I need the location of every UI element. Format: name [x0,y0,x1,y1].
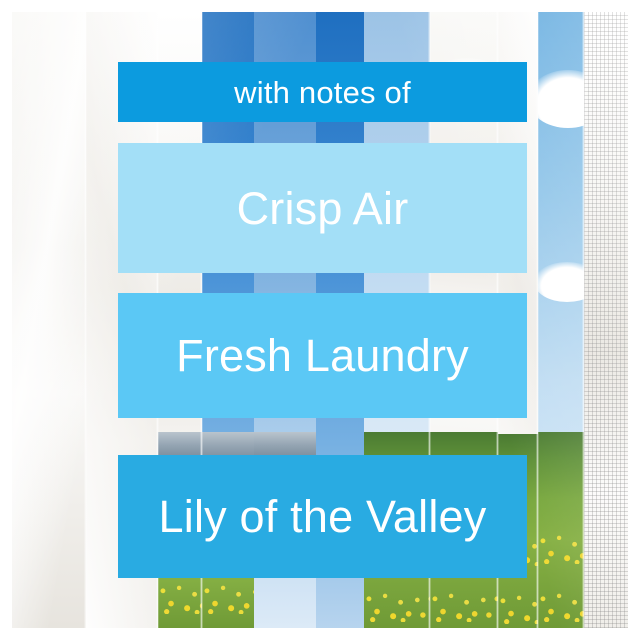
collage-seam [582,12,585,628]
cloud-puff [538,70,584,128]
background-strip-fabric-1 [12,12,86,628]
note-band-label: Lily of the Valley [159,494,487,539]
collage-seam [84,12,87,628]
background-strip-mesh [584,12,628,628]
banner-canvas: with notes of Crisp Air Fresh Laundry Li… [0,0,640,640]
collage-seam [536,12,539,628]
meadow-patch [538,432,584,628]
heading-band-with-notes: with notes of [118,62,527,122]
note-band-crisp-air: Crisp Air [118,143,527,273]
distant-hill [158,432,202,456]
note-band-label: Crisp Air [237,186,409,231]
note-band-fresh-laundry: Fresh Laundry [118,293,527,418]
note-band-lily-of-the-valley: Lily of the Valley [118,455,527,578]
note-band-label: Fresh Laundry [176,333,469,378]
distant-hill [254,432,316,456]
cloud-puff [538,262,584,302]
background-strip-sky-clear [538,12,584,628]
heading-band-label: with notes of [234,77,411,108]
